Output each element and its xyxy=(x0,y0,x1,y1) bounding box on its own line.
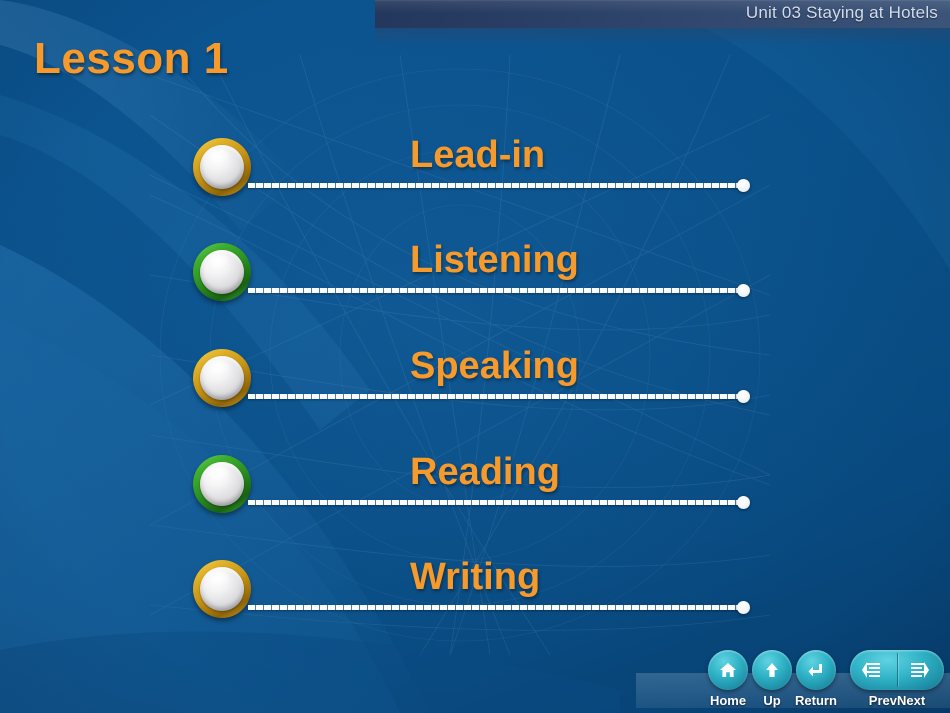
bullet-highlight xyxy=(208,571,230,586)
up-arrow-icon xyxy=(762,660,782,680)
ruler-end-dot-icon xyxy=(737,284,750,297)
ruler-bar xyxy=(248,183,745,188)
ruler-line xyxy=(248,182,745,189)
menu-item-label[interactable]: Lead-in xyxy=(410,134,545,177)
ruler-line xyxy=(248,604,745,611)
ruler-line xyxy=(248,499,745,506)
list-item[interactable]: Reading xyxy=(0,451,950,531)
menu-item-label[interactable]: Reading xyxy=(410,451,560,494)
ruler-line xyxy=(248,287,745,294)
ruler-end-dot-icon xyxy=(737,390,750,403)
list-item[interactable]: Lead-in xyxy=(0,134,950,214)
ruler-bar xyxy=(248,500,745,505)
nav-return-button[interactable]: Return xyxy=(794,650,838,708)
pearl-bullet-button[interactable] xyxy=(193,349,251,407)
ruler-bar xyxy=(248,394,745,399)
nav-prev-next-capsule[interactable] xyxy=(850,650,944,690)
list-item[interactable]: Listening xyxy=(0,239,950,319)
list-item[interactable]: Speaking xyxy=(0,345,950,425)
ruler-bar xyxy=(248,288,745,293)
ruler-bar xyxy=(248,605,745,610)
nav-capsule-divider xyxy=(897,653,898,687)
nav-prev-label[interactable]: Prev xyxy=(869,693,897,708)
pearl-bullet-button[interactable] xyxy=(193,560,251,618)
return-arrow-icon xyxy=(806,660,826,680)
menu-item-label[interactable]: Speaking xyxy=(410,345,579,388)
home-icon xyxy=(718,660,738,680)
menu-item-label[interactable]: Listening xyxy=(410,239,579,282)
bullet-highlight xyxy=(208,254,230,269)
slide-canvas: Unit 03 Staying at Hotels Lesson 1 Lead-… xyxy=(0,0,950,713)
slide-navigation-bar: Home Up Return xyxy=(706,650,944,708)
pearl-bullet-button[interactable] xyxy=(193,138,251,196)
ruler-end-dot-icon xyxy=(737,601,750,614)
pearl-bullet-button[interactable] xyxy=(193,455,251,513)
nav-return-label: Return xyxy=(794,693,838,708)
nav-home-circle[interactable] xyxy=(708,650,748,690)
bullet-highlight xyxy=(208,149,230,164)
nav-prev-next-labels: Prev Next xyxy=(850,693,944,708)
prev-page-icon[interactable] xyxy=(861,659,883,681)
nav-return-circle[interactable] xyxy=(796,650,836,690)
ruler-end-dot-icon xyxy=(737,179,750,192)
nav-up-label: Up xyxy=(750,693,794,708)
lesson-menu-list: Lead-in Listening xyxy=(0,0,950,713)
nav-up-button[interactable]: Up xyxy=(750,650,794,708)
ruler-end-dot-icon xyxy=(737,496,750,509)
next-page-icon[interactable] xyxy=(908,659,930,681)
nav-home-button[interactable]: Home xyxy=(706,650,750,708)
nav-up-circle[interactable] xyxy=(752,650,792,690)
list-item[interactable]: Writing xyxy=(0,556,950,636)
ruler-line xyxy=(248,393,745,400)
nav-next-label[interactable]: Next xyxy=(897,693,925,708)
bullet-highlight xyxy=(208,360,230,375)
nav-home-label: Home xyxy=(706,693,750,708)
pearl-bullet-button[interactable] xyxy=(193,243,251,301)
menu-item-label[interactable]: Writing xyxy=(410,556,540,599)
bullet-highlight xyxy=(208,466,230,481)
